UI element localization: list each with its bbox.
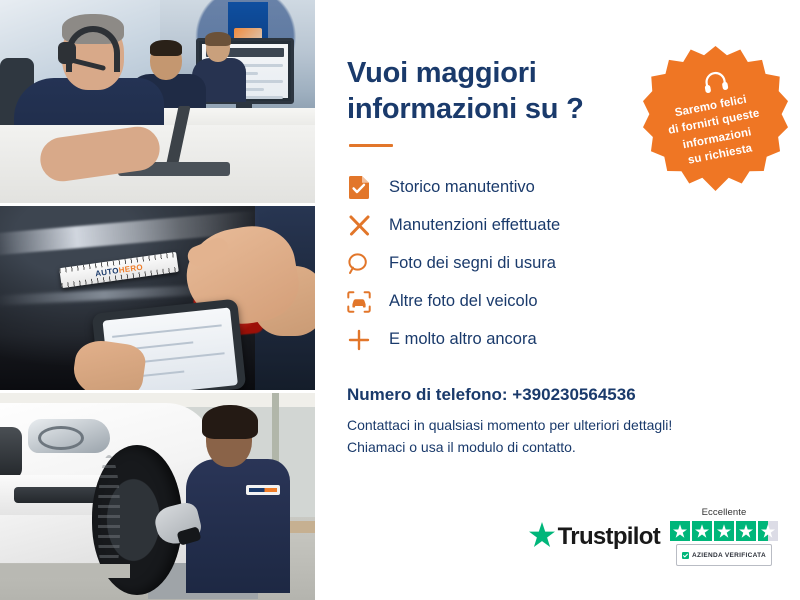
contact-subtext: Contattaci in qualsiasi momento per ulte… bbox=[347, 415, 774, 458]
content-column: Vuoi maggiori informazioni su ? Saremo f… bbox=[315, 0, 800, 600]
verified-label: AZIENDA VERIFICATA bbox=[692, 552, 766, 559]
contact-subtext-line-1: Contattaci in qualsiasi momento per ulte… bbox=[347, 417, 672, 433]
feature-label: Altre foto del veicolo bbox=[389, 292, 538, 311]
magnifier-icon bbox=[347, 252, 371, 276]
feature-item-molto-altro: E molto altro ancora bbox=[347, 321, 774, 359]
plus-icon bbox=[347, 328, 371, 352]
document-check-icon bbox=[347, 176, 371, 200]
workshop-wheel-check-photo bbox=[0, 393, 315, 600]
photo-column: AUTOHERO bbox=[0, 0, 315, 600]
feature-label: Storico manutentivo bbox=[389, 178, 535, 197]
title-divider bbox=[349, 144, 393, 147]
trustpilot-logo: Trustpilot bbox=[529, 522, 660, 552]
page-title-line-1: Vuoi maggiori bbox=[347, 57, 537, 89]
verified-check-icon bbox=[682, 546, 689, 564]
trustpilot-wordmark: Trustpilot bbox=[558, 523, 660, 551]
star-icon bbox=[714, 521, 734, 541]
contact-block: Numero di telefono: +390230564536 Contat… bbox=[347, 385, 774, 458]
contact-subtext-line-2: Chiamaci o usa il modulo di contatto. bbox=[347, 439, 576, 455]
car-scan-icon bbox=[347, 290, 371, 314]
trustpilot-rating: Eccellente AZIENDA VERIFICATA bbox=[670, 507, 778, 566]
star-half-icon bbox=[758, 521, 778, 541]
feature-label: E molto altro ancora bbox=[389, 330, 537, 349]
star-icon bbox=[736, 521, 756, 541]
call-centre-agents-photo bbox=[0, 0, 315, 203]
wrench-screwdriver-icon bbox=[347, 214, 371, 238]
trustpilot-rating-label: Eccellente bbox=[702, 507, 747, 518]
page-title-line-2: informazioni su ? bbox=[347, 93, 584, 125]
feature-label: Manutenzioni effettuate bbox=[389, 216, 560, 235]
feature-item-manutenzioni-effettuate: Manutenzioni effettuate bbox=[347, 207, 774, 245]
feature-list: Storico manutentivo Manutenzioni effettu… bbox=[347, 169, 774, 359]
trustpilot-stars bbox=[670, 521, 778, 541]
feature-item-altre-foto-veicolo: Altre foto del veicolo bbox=[347, 283, 774, 321]
promo-panel: AUTOHERO bbox=[0, 0, 800, 600]
feature-label: Foto dei segni di usura bbox=[389, 254, 556, 273]
star-icon bbox=[692, 521, 712, 541]
feature-item-foto-segni-usura: Foto dei segni di usura bbox=[347, 245, 774, 283]
availability-badge: Saremo felici di fornirti queste informa… bbox=[643, 46, 788, 191]
trustpilot-widget[interactable]: Trustpilot Eccellente AZIENDA VERIFICATA bbox=[529, 507, 778, 566]
phone-number[interactable]: Numero di telefono: +390230564536 bbox=[347, 385, 774, 405]
page-title: Vuoi maggiori informazioni su ? bbox=[347, 56, 647, 128]
verified-business-badge: AZIENDA VERIFICATA bbox=[676, 544, 772, 566]
trustpilot-star-icon bbox=[529, 522, 555, 552]
star-icon bbox=[670, 521, 690, 541]
car-inspection-ruler-photo: AUTOHERO bbox=[0, 206, 315, 390]
